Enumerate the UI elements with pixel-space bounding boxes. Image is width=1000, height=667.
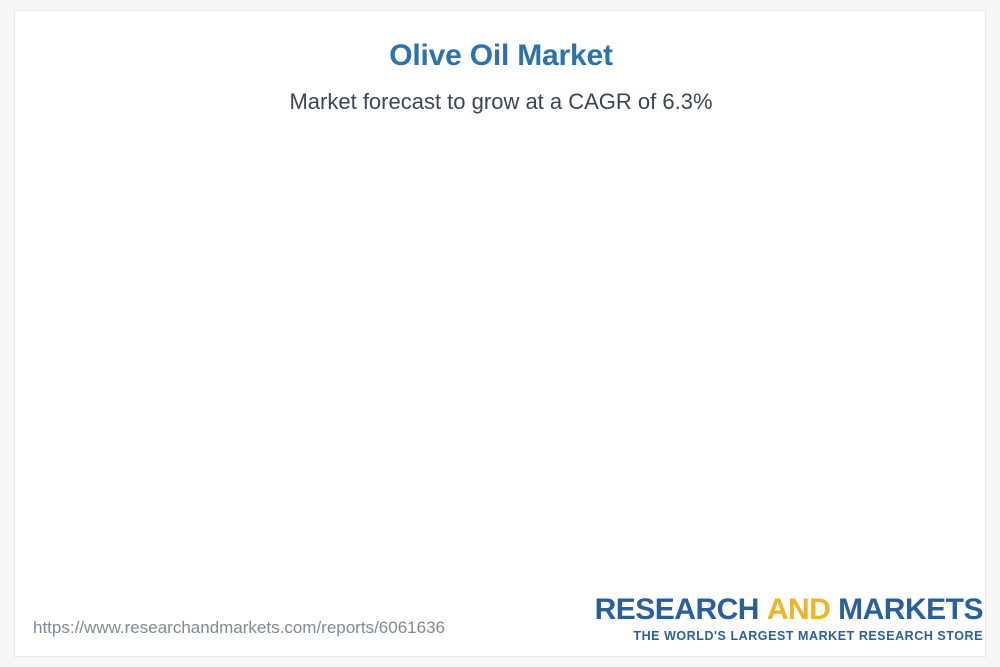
chart-card: Olive Oil Market Market forecast to grow… — [14, 10, 986, 657]
brand-logo[interactable]: RESEARCH AND MARKETS THE WORLD'S LARGEST… — [595, 595, 983, 643]
plot-area: USD 15.24 Billion 2024 USD 21.8 Billion — [15, 11, 986, 657]
brand-logo-tagline: THE WORLD'S LARGEST MARKET RESEARCH STOR… — [595, 630, 983, 643]
brand-logo-and: AND — [767, 593, 831, 626]
source-url[interactable]: https://www.researchandmarkets.com/repor… — [33, 618, 445, 638]
brand-logo-wordmark: RESEARCH AND MARKETS — [595, 595, 983, 625]
brand-logo-space2 — [830, 593, 838, 626]
chart-page: Olive Oil Market Market forecast to grow… — [0, 0, 1000, 667]
brand-logo-space1 — [759, 593, 767, 626]
brand-logo-markets: MARKETS — [838, 593, 983, 626]
brand-logo-research: RESEARCH — [595, 593, 759, 626]
